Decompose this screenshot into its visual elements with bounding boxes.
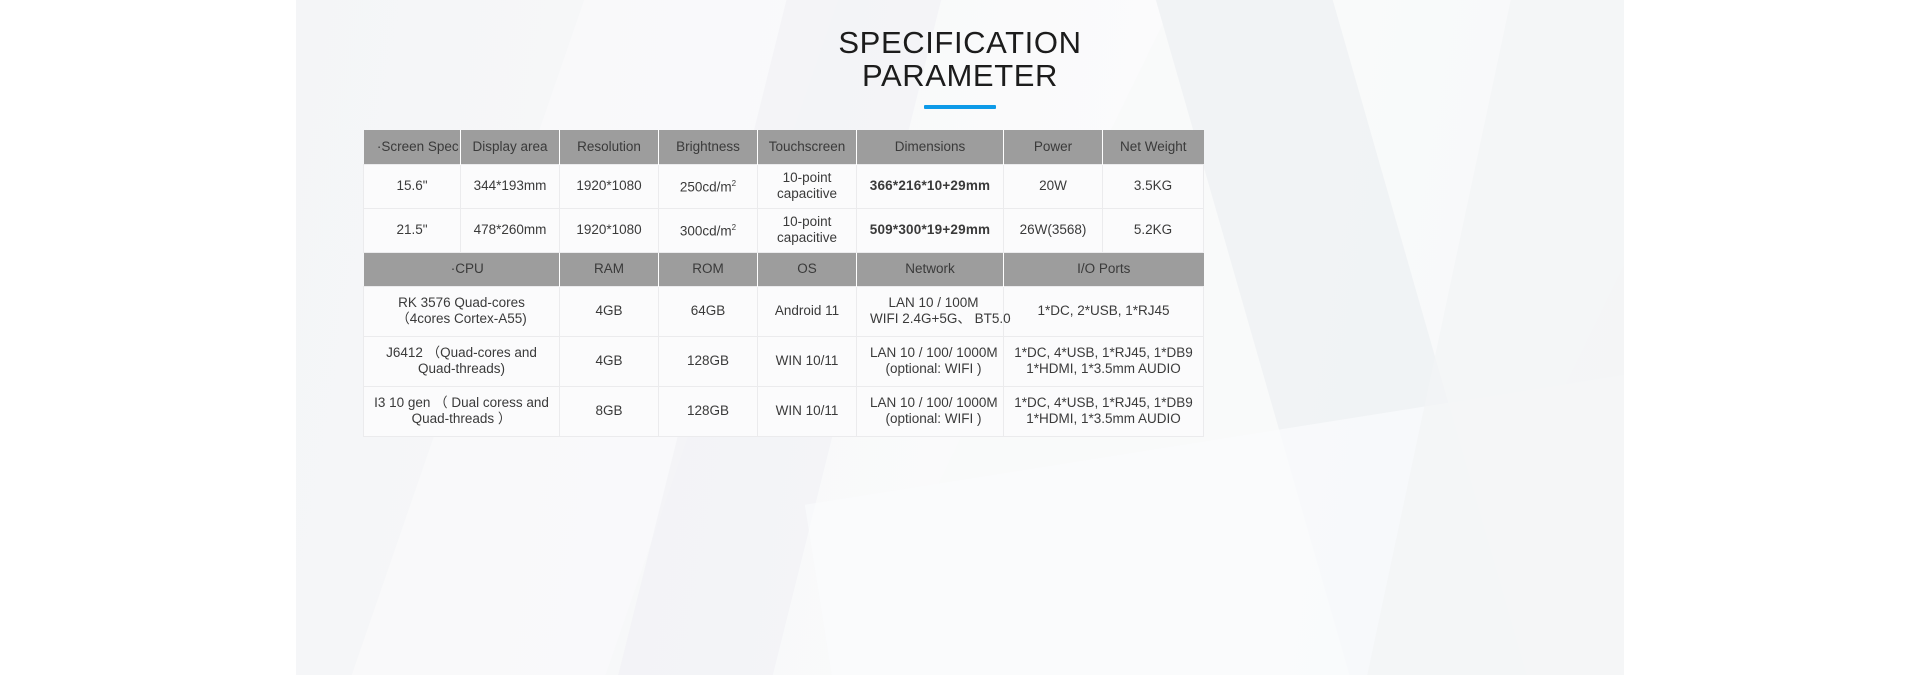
header-ram: RAM bbox=[560, 252, 659, 286]
header-brightness: Brightness bbox=[659, 130, 758, 164]
cell-io-ports: 1*DC, 4*USB, 1*RJ45, 1*DB9 1*HDMI, 1*3.5… bbox=[1004, 336, 1204, 386]
cell-screen-spec: 15.6" bbox=[364, 164, 461, 208]
cell-ram: 8GB bbox=[560, 386, 659, 436]
cell-rom: 128GB bbox=[659, 336, 758, 386]
cell-brightness: 300cd/m2 bbox=[659, 208, 758, 252]
cell-cpu: I3 10 gen （ Dual coress and Quad-threads… bbox=[364, 386, 560, 436]
cell-display-area: 478*260mm bbox=[461, 208, 560, 252]
title-line-1: SPECIFICATION bbox=[0, 26, 1920, 59]
header-dimensions: Dimensions bbox=[857, 130, 1004, 164]
cell-network: LAN 10 / 100M WIFI 2.4G+5G、 BT5.0 bbox=[857, 286, 1004, 336]
cell-touchscreen: 10-point capacitive bbox=[758, 164, 857, 208]
header-os: OS bbox=[758, 252, 857, 286]
cell-os: WIN 10/11 bbox=[758, 386, 857, 436]
cell-net-weight: 5.2KG bbox=[1103, 208, 1204, 252]
header-rom: ROM bbox=[659, 252, 758, 286]
cell-dimensions: 509*300*19+29mm bbox=[857, 208, 1004, 252]
cell-os: WIN 10/11 bbox=[758, 336, 857, 386]
cell-resolution: 1920*1080 bbox=[560, 208, 659, 252]
specification-table: ·Screen Spec Display area Resolution Bri… bbox=[363, 130, 1204, 437]
header-network: Network bbox=[857, 252, 1004, 286]
screen-header-row: ·Screen Spec Display area Resolution Bri… bbox=[364, 130, 1204, 164]
header-net-weight: Net Weight bbox=[1103, 130, 1204, 164]
header-touchscreen: Touchscreen bbox=[758, 130, 857, 164]
cell-ram: 4GB bbox=[560, 286, 659, 336]
page-title: SPECIFICATION PARAMETER bbox=[0, 26, 1920, 109]
header-display-area: Display area bbox=[461, 130, 560, 164]
cell-cpu: RK 3576 Quad-cores （4cores Cortex-A55) bbox=[364, 286, 560, 336]
cell-io-ports: 1*DC, 2*USB, 1*RJ45 bbox=[1004, 286, 1204, 336]
header-io-ports: I/O Ports bbox=[1004, 252, 1204, 286]
cell-brightness: 250cd/m2 bbox=[659, 164, 758, 208]
cell-screen-spec: 21.5" bbox=[364, 208, 461, 252]
title-accent-bar bbox=[924, 105, 996, 109]
cell-ram: 4GB bbox=[560, 336, 659, 386]
cell-touchscreen: 10-point capacitive bbox=[758, 208, 857, 252]
table-row: 15.6" 344*193mm 1920*1080 250cd/m2 10-po… bbox=[364, 164, 1204, 208]
cell-cpu: J6412 （Quad-cores and Quad-threads) bbox=[364, 336, 560, 386]
cpu-header-row: ·CPU RAM ROM OS Network I/O Ports bbox=[364, 252, 1204, 286]
title-line-2: PARAMETER bbox=[0, 59, 1920, 92]
cell-dimensions: 366*216*10+29mm bbox=[857, 164, 1004, 208]
header-cpu: ·CPU bbox=[364, 252, 560, 286]
cell-network: LAN 10 / 100/ 1000M (optional: WIFI ) bbox=[857, 336, 1004, 386]
cell-power: 20W bbox=[1004, 164, 1103, 208]
table-row: 21.5" 478*260mm 1920*1080 300cd/m2 10-po… bbox=[364, 208, 1204, 252]
cell-rom: 128GB bbox=[659, 386, 758, 436]
header-power: Power bbox=[1004, 130, 1103, 164]
cell-rom: 64GB bbox=[659, 286, 758, 336]
table-row: I3 10 gen （ Dual coress and Quad-threads… bbox=[364, 386, 1204, 436]
cell-os: Android 11 bbox=[758, 286, 857, 336]
cell-net-weight: 3.5KG bbox=[1103, 164, 1204, 208]
cell-network: LAN 10 / 100/ 1000M (optional: WIFI ) bbox=[857, 386, 1004, 436]
cell-io-ports: 1*DC, 4*USB, 1*RJ45, 1*DB9 1*HDMI, 1*3.5… bbox=[1004, 386, 1204, 436]
table-row: RK 3576 Quad-cores （4cores Cortex-A55) 4… bbox=[364, 286, 1204, 336]
table-row: J6412 （Quad-cores and Quad-threads) 4GB … bbox=[364, 336, 1204, 386]
header-screen-spec: ·Screen Spec bbox=[364, 130, 461, 164]
cell-display-area: 344*193mm bbox=[461, 164, 560, 208]
cell-resolution: 1920*1080 bbox=[560, 164, 659, 208]
cell-power: 26W(3568) bbox=[1004, 208, 1103, 252]
header-resolution: Resolution bbox=[560, 130, 659, 164]
